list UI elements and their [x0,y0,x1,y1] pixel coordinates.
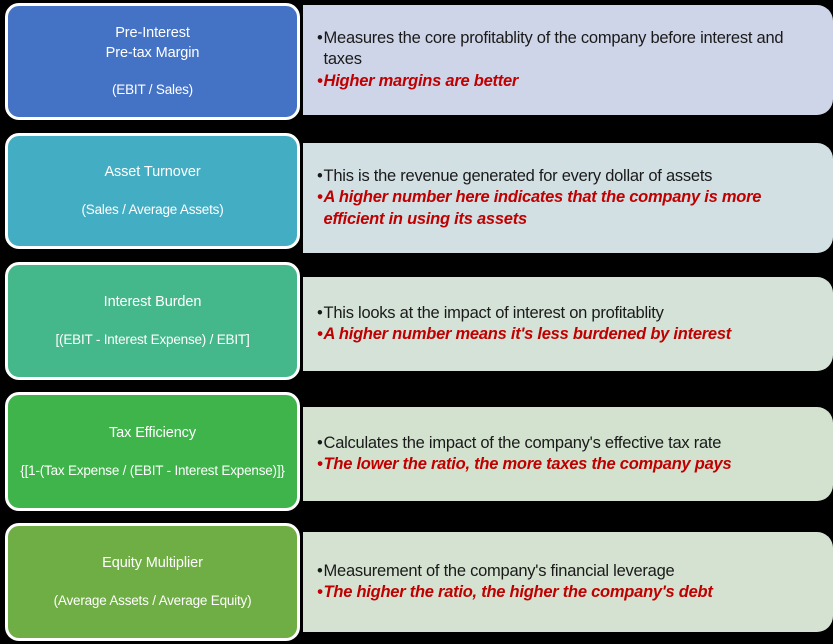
description-panel-interest-burden: •This looks at the impact of interest on… [303,277,833,371]
ratio-name-line: Tax Efficiency [109,424,196,444]
ratio-formula: (Average Assets / Average Equity) [54,592,252,610]
dupont-ratio-diagram: •Measures the core profitablity of the c… [0,0,833,644]
bullet-text: Measurement of the company's financial l… [324,561,821,582]
bullet-pre-interest-pretax-margin-1: •Measures the core profitablity of the c… [317,28,821,70]
bullet-text: Measures the core profitablity of the co… [324,28,821,70]
ratio-box-equity-multiplier[interactable]: Equity Multiplier(Average Assets / Avera… [5,523,300,641]
bullet-dot-icon: • [317,303,323,324]
ratio-formula: {[1-(Tax Expense / (EBIT - Interest Expe… [20,462,284,480]
bullet-interest-burden-1: •This looks at the impact of interest on… [317,303,821,324]
ratio-name-line: Interest Burden [104,293,202,313]
bullet-equity-multiplier-1: •Measurement of the company's financial … [317,561,821,582]
description-panel-tax-efficiency: •Calculates the impact of the company's … [303,407,833,501]
ratio-formula: [(EBIT - Interest Expense) / EBIT] [55,331,249,349]
bullet-dot-icon: • [317,324,323,345]
bullet-text: This is the revenue generated for every … [324,166,821,187]
ratio-box-asset-turnover[interactable]: Asset Turnover(Sales / Average Assets) [5,133,300,249]
description-panel-asset-turnover: •This is the revenue generated for every… [303,143,833,253]
bullet-dot-icon: • [317,28,323,49]
ratio-formula: (EBIT / Sales) [112,81,193,99]
bullet-interest-burden-2: •A higher number means it's less burdene… [317,324,821,345]
bullet-dot-icon: • [317,454,323,475]
bullet-asset-turnover-2: •A higher number here indicates that the… [317,187,821,229]
bullet-dot-icon: • [317,187,323,208]
bullet-dot-icon: • [317,582,323,603]
bullet-dot-icon: • [317,71,323,92]
bullet-asset-turnover-1: •This is the revenue generated for every… [317,166,821,187]
bullet-text: A higher number means it's less burdened… [324,324,821,345]
ratio-box-interest-burden[interactable]: Interest Burden[(EBIT - Interest Expense… [5,262,300,380]
bullet-text: Calculates the impact of the company's e… [324,433,821,454]
bullet-dot-icon: • [317,561,323,582]
bullet-tax-efficiency-1: •Calculates the impact of the company's … [317,433,821,454]
bullet-tax-efficiency-2: •The lower the ratio, the more taxes the… [317,454,821,475]
bullet-pre-interest-pretax-margin-2: •Higher margins are better [317,71,821,92]
ratio-name-line: Asset Turnover [104,163,200,183]
ratio-name-line: Equity Multiplier [102,554,203,574]
ratio-box-pre-interest-pretax-margin[interactable]: Pre-InterestPre-tax Margin(EBIT / Sales) [5,3,300,120]
bullet-equity-multiplier-2: •The higher the ratio, the higher the co… [317,582,821,603]
bullet-text: Higher margins are better [324,71,821,92]
description-panel-equity-multiplier: •Measurement of the company's financial … [303,532,833,632]
ratio-name-line: Pre-tax Margin [106,44,200,64]
bullet-text: The lower the ratio, the more taxes the … [324,454,821,475]
description-panel-pre-interest-pretax-margin: •Measures the core profitablity of the c… [303,5,833,115]
bullet-text: This looks at the impact of interest on … [324,303,821,324]
bullet-dot-icon: • [317,433,323,454]
bullet-text: The higher the ratio, the higher the com… [324,582,821,603]
bullet-dot-icon: • [317,166,323,187]
bullet-text: A higher number here indicates that the … [324,187,821,229]
ratio-name-line: Pre-Interest [115,24,190,44]
ratio-formula: (Sales / Average Assets) [81,201,223,219]
ratio-box-tax-efficiency[interactable]: Tax Efficiency{[1-(Tax Expense / (EBIT -… [5,392,300,511]
